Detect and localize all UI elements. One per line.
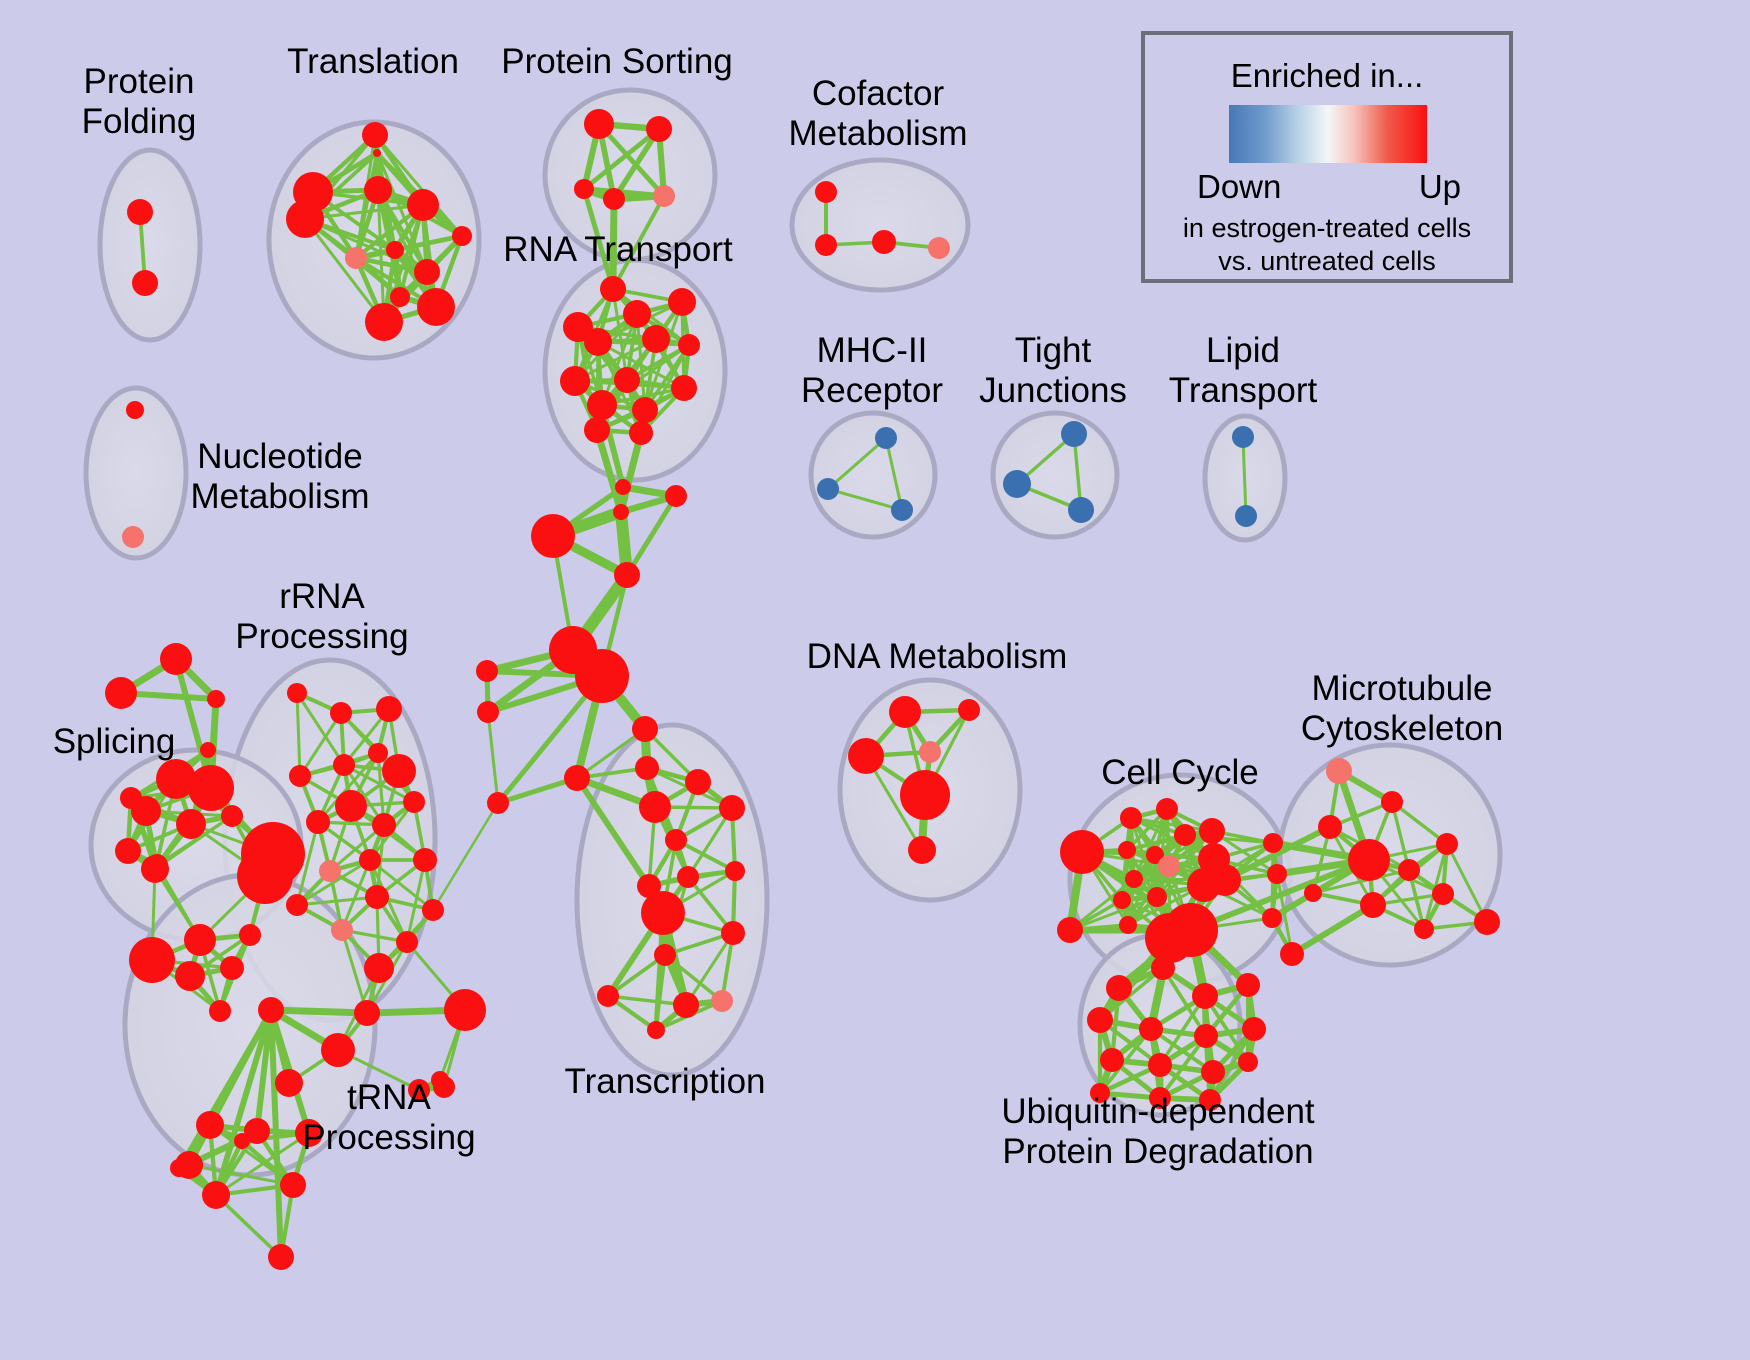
network-node[interactable] [1147,887,1167,907]
network-node[interactable] [258,997,284,1023]
network-node[interactable] [719,795,745,821]
network-node[interactable] [603,188,625,210]
network-node[interactable] [928,237,950,259]
legend-up-label: Up [1419,168,1461,206]
network-node[interactable] [1106,975,1132,1001]
network-node[interactable] [1194,1024,1218,1048]
network-node[interactable] [176,809,206,839]
network-node[interactable] [333,754,355,776]
network-node[interactable] [613,504,629,520]
network-node[interactable] [417,288,455,326]
legend-color-bar [1229,105,1427,163]
network-node[interactable] [408,1079,430,1101]
network-node[interactable] [1061,421,1087,447]
network-node[interactable] [908,836,936,864]
network-node[interactable] [234,1133,250,1149]
network-node[interactable] [1120,807,1142,829]
network-node[interactable] [1113,891,1131,909]
network-node[interactable] [476,660,498,682]
network-node[interactable] [286,200,324,238]
network-node[interactable] [376,696,402,722]
network-node[interactable] [587,390,617,420]
network-node[interactable] [654,944,676,966]
network-node[interactable] [623,300,651,328]
network-node[interactable] [1232,426,1254,448]
network-node[interactable] [1474,909,1500,935]
network-node[interactable] [575,649,629,703]
network-node[interactable] [368,743,388,763]
network-node[interactable] [815,234,837,256]
network-node[interactable] [584,109,614,139]
network-node[interactable] [1145,913,1195,963]
network-node[interactable] [330,702,352,724]
network-node[interactable] [685,769,711,795]
network-node[interactable] [614,562,640,588]
network-node[interactable] [1267,864,1287,884]
network-node[interactable] [900,770,950,820]
network-node[interactable] [160,643,192,675]
network-node[interactable] [477,701,499,723]
network-node[interactable] [1348,839,1390,881]
network-node[interactable] [202,1181,230,1209]
network-node[interactable] [306,810,330,834]
network-node[interactable] [386,241,404,259]
network-node[interactable] [1174,824,1196,846]
network-node[interactable] [1151,956,1175,980]
network-node[interactable] [1360,892,1386,918]
network-node[interactable] [642,325,670,353]
network-node[interactable] [286,894,308,916]
network-node[interactable] [584,417,610,443]
network-node[interactable] [614,367,640,393]
cluster-ellipse-cofactor-metabolism [792,160,968,290]
network-node[interactable] [403,791,425,813]
network-node[interactable] [364,953,394,983]
network-node[interactable] [126,401,144,419]
network-node[interactable] [413,848,437,872]
network-node[interactable] [129,937,175,983]
network-node[interactable] [1119,916,1137,934]
network-node[interactable] [639,791,671,823]
network-node[interactable] [668,288,696,316]
network-node[interactable] [815,181,837,203]
network-node[interactable] [671,375,697,401]
network-node[interactable] [207,690,225,708]
network-edge [613,199,614,289]
network-node[interactable] [958,699,980,721]
network-node[interactable] [120,787,142,809]
network-node[interactable] [1149,1087,1171,1109]
network-node[interactable] [220,956,244,980]
network-node[interactable] [1100,1048,1124,1072]
network-node[interactable] [615,479,631,495]
network-node[interactable] [146,854,168,876]
network-node[interactable] [635,756,659,780]
network-node[interactable] [188,765,234,811]
network-node[interactable] [1326,758,1352,784]
network-node[interactable] [115,838,141,864]
network-node[interactable] [422,899,444,921]
network-node[interactable] [1201,1060,1225,1084]
network-node[interactable] [677,866,699,888]
network-node[interactable] [1263,833,1283,853]
enrichment-network-figure: Protein FoldingTranslationProtein Sortin… [0,0,1750,1360]
network-node[interactable] [1003,470,1031,498]
network-node[interactable] [721,921,745,945]
network-node[interactable] [331,919,353,941]
network-node[interactable] [1192,983,1218,1009]
network-node[interactable] [237,848,293,904]
network-node[interactable] [452,226,472,246]
network-node[interactable] [390,287,410,307]
network-node[interactable] [275,1069,303,1097]
legend-down-label: Down [1197,168,1281,206]
network-node[interactable] [1242,1017,1266,1041]
network-node[interactable] [373,149,381,157]
network-node[interactable] [280,1172,306,1198]
network-node[interactable] [1436,833,1458,855]
network-edge [488,712,498,803]
network-node[interactable] [646,116,672,142]
network-node[interactable] [678,334,700,356]
network-node[interactable] [1139,1017,1163,1041]
network-node[interactable] [431,1071,449,1089]
network-node[interactable] [1060,830,1104,874]
legend-title: Enriched in... [1145,57,1509,95]
network-node[interactable] [1414,919,1434,939]
network-node[interactable] [1156,798,1178,820]
network-edge [271,1010,367,1013]
network-edge [433,803,498,910]
network-node[interactable] [1187,868,1221,902]
network-node[interactable] [1087,1007,1113,1033]
network-node[interactable] [584,328,612,356]
network-node[interactable] [560,366,590,396]
network-node[interactable] [289,765,311,787]
network-node[interactable] [127,199,153,225]
network-node[interactable] [872,230,896,254]
network-node[interactable] [1398,859,1420,881]
network-node[interactable] [531,514,575,558]
network-node[interactable] [1199,1089,1221,1111]
network-node[interactable] [647,1021,665,1039]
network-node[interactable] [600,276,626,302]
network-node[interactable] [1238,1052,1258,1072]
network-node[interactable] [1158,855,1180,877]
network-node[interactable] [287,683,307,703]
network-node[interactable] [1280,942,1304,966]
network-node[interactable] [1235,505,1257,527]
network-node[interactable] [597,985,619,1007]
network-node[interactable] [711,990,733,1012]
network-node[interactable] [122,526,144,548]
network-node[interactable] [1148,1053,1172,1077]
network-node[interactable] [1318,815,1342,839]
legend-subtitle-line-1: in estrogen-treated cells [1145,213,1509,244]
network-node[interactable] [362,122,388,148]
legend-box: Enriched in... Down Up in estrogen-treat… [1141,31,1513,283]
network-node[interactable] [725,861,745,881]
network-node[interactable] [629,421,653,445]
network-node[interactable] [321,1033,355,1067]
network-node[interactable] [444,989,486,1031]
network-node[interactable] [396,931,418,953]
cluster-ellipse-mhc-ii-receptor [811,413,935,537]
network-node[interactable] [105,677,137,709]
cluster-ellipse-protein-folding [100,150,200,340]
network-node[interactable] [487,792,509,814]
network-node[interactable] [382,754,416,788]
network-node[interactable] [365,303,403,341]
network-node[interactable] [1262,908,1282,928]
network-node[interactable] [364,176,392,204]
network-node[interactable] [132,270,158,296]
network-node[interactable] [665,829,687,851]
network-node[interactable] [889,696,921,728]
network-node[interactable] [665,485,687,507]
network-node[interactable] [641,891,685,935]
legend-subtitle-line-2: vs. untreated cells [1145,246,1509,277]
network-node[interactable] [414,259,440,285]
network-node[interactable] [209,1000,231,1022]
network-node[interactable] [673,992,699,1018]
network-node[interactable] [221,805,243,827]
network-node[interactable] [891,499,913,521]
network-node[interactable] [817,478,839,500]
network-node[interactable] [1090,1083,1110,1103]
network-node[interactable] [196,1111,224,1139]
network-node[interactable] [354,1000,380,1026]
network-node[interactable] [359,849,381,871]
network-node[interactable] [574,179,594,199]
network-node[interactable] [365,885,389,909]
network-node[interactable] [919,741,941,763]
network-node[interactable] [875,427,897,449]
network-node[interactable] [1381,791,1403,813]
network-node[interactable] [239,924,261,946]
network-node[interactable] [335,790,367,822]
network-node[interactable] [1236,973,1260,997]
network-node[interactable] [848,738,884,774]
network-node[interactable] [184,924,216,956]
network-node[interactable] [268,1244,294,1270]
network-node[interactable] [632,716,658,742]
network-node[interactable] [1125,870,1143,888]
network-node[interactable] [200,742,216,758]
network-node[interactable] [372,813,396,837]
network-node[interactable] [1432,883,1454,905]
network-node[interactable] [653,185,675,207]
network-node[interactable] [345,247,367,269]
network-node[interactable] [175,961,205,991]
network-node[interactable] [407,189,439,221]
network-node[interactable] [1068,497,1094,523]
network-node[interactable] [170,1159,188,1177]
network-node[interactable] [564,765,590,791]
network-node[interactable] [1199,818,1225,844]
network-node[interactable] [295,1119,323,1147]
network-node[interactable] [319,860,341,882]
network-node[interactable] [1057,917,1083,943]
network-node[interactable] [1118,841,1136,859]
network-node[interactable] [1304,884,1322,902]
network-node[interactable] [632,397,658,423]
